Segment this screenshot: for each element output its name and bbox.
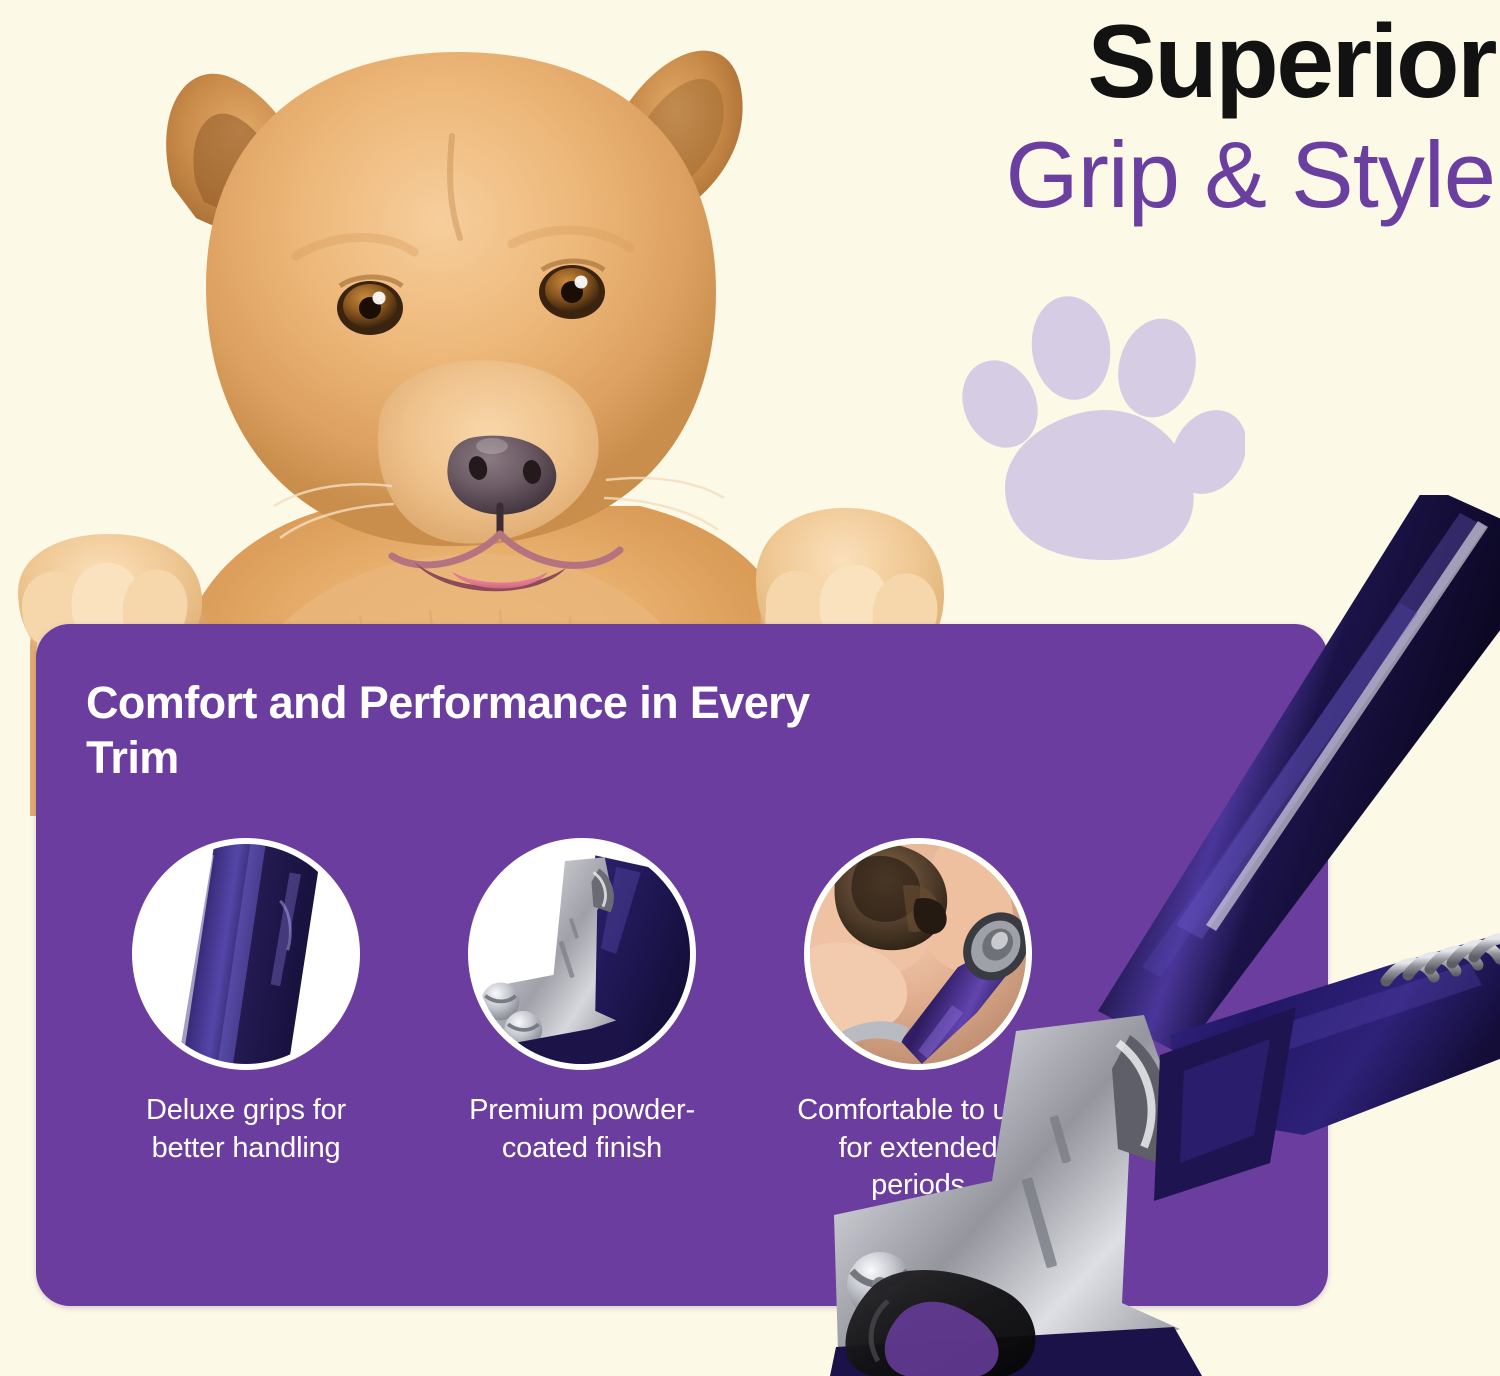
- headline: Superior Grip & Style: [855, 8, 1495, 227]
- feature-list: Deluxe grips for better handling: [132, 838, 1142, 1205]
- trimming-paw-in-use-image: [804, 838, 1032, 1070]
- deluxe-grip-closeup-image: [132, 838, 360, 1070]
- powder-coated-head-closeup-image: [468, 838, 696, 1070]
- feature-caption: Deluxe grips for better handling: [116, 1092, 376, 1167]
- feature-caption: Comfortable to use for extended periods: [788, 1092, 1048, 1205]
- feature-card: Comfort and Performance in Every Trim: [36, 624, 1328, 1306]
- product-feature-banner: Comfort and Performance in Every Trim: [0, 0, 1500, 1376]
- headline-line-1: Superior: [855, 8, 1495, 117]
- feature-item-deluxe-grips[interactable]: Deluxe grips for better handling: [132, 838, 360, 1205]
- paw-print-icon: [955, 292, 1245, 562]
- headline-line-2: Grip & Style: [855, 123, 1495, 226]
- feature-caption: Premium powder-coated finish: [452, 1092, 712, 1167]
- card-heading: Comfort and Performance in Every Trim: [86, 676, 846, 786]
- feature-item-powder-coated[interactable]: Premium powder-coated finish: [468, 838, 696, 1205]
- feature-item-extended-use[interactable]: Comfortable to use for extended periods: [804, 838, 1032, 1205]
